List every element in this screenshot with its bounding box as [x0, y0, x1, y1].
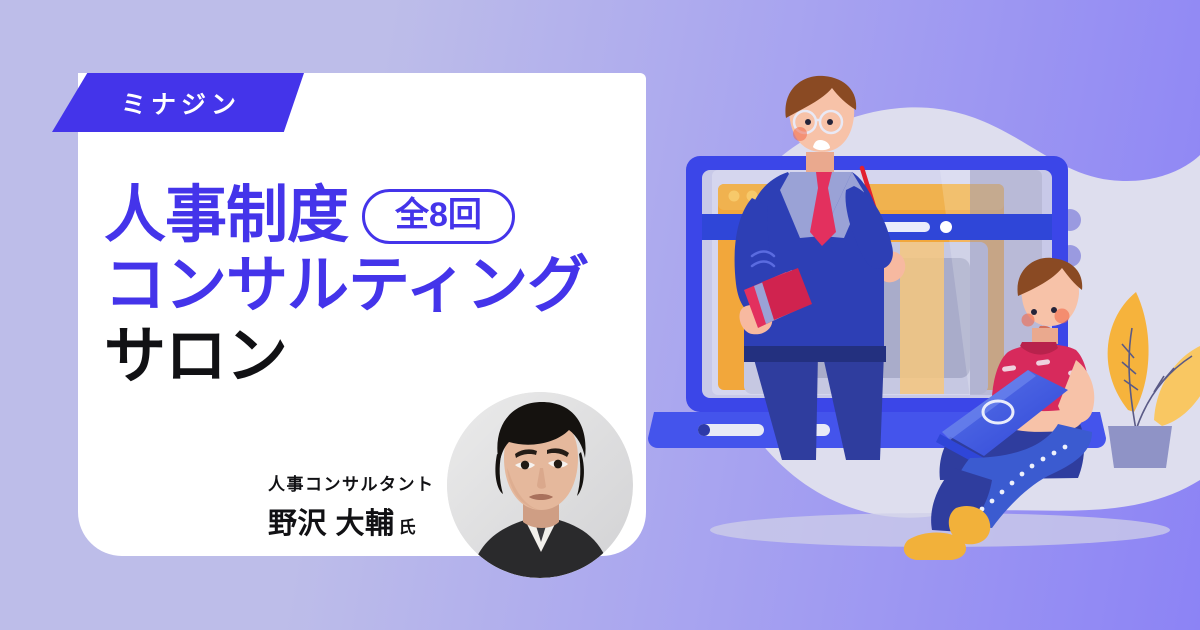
headline-line-3: サロン: [104, 326, 287, 388]
speaker-name-row: 野沢 大輔 氏: [268, 500, 435, 542]
speaker-block: 人事コンサルタント 野沢 大輔 氏: [268, 470, 435, 542]
brand-ribbon: ミナジン: [52, 73, 304, 132]
headline-line-2: コンサルティング: [104, 255, 588, 317]
headline-block: 人事制度 全8回 コンサルティング サロン: [104, 180, 644, 393]
speaker-name: 野沢 大輔: [268, 500, 395, 542]
session-count-badge: 全8回: [362, 189, 515, 244]
headline-line-1: 人事制度: [104, 185, 348, 247]
online-seminar-illustration: [640, 60, 1200, 600]
speaker-name-suffix: 氏: [399, 513, 417, 538]
brand-ribbon-label: ミナジン: [115, 85, 241, 121]
speaker-portrait-photo: [447, 392, 633, 578]
poster-canvas: ミナジン 人事制度 全8回 コンサルティング サロン 人事コンサルタント 野沢 …: [0, 0, 1200, 630]
speaker-role: 人事コンサルタント: [268, 470, 435, 495]
